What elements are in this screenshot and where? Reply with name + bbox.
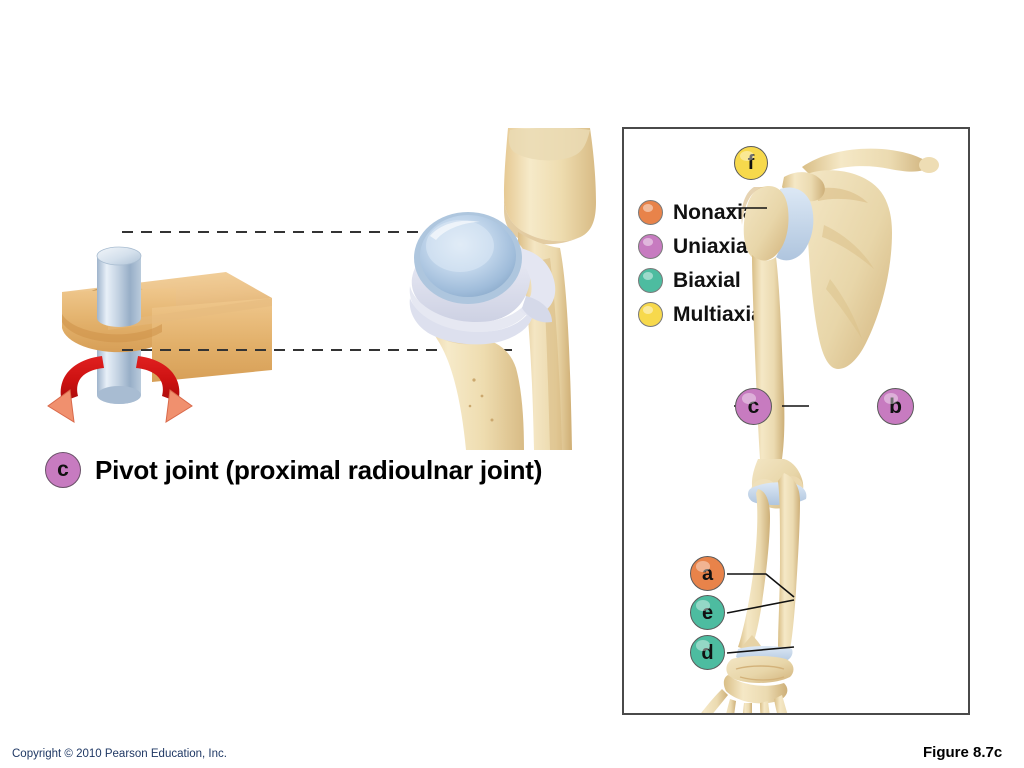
marker-badge-d[interactable]: d — [690, 635, 725, 670]
marker-badge-b[interactable]: b — [877, 388, 914, 425]
marker-badge-e[interactable]: e — [690, 595, 725, 630]
caption-text: Pivot joint (proximal radioulnar joint) — [95, 455, 542, 486]
radioulnar-joint-svg — [400, 128, 615, 450]
marker-letter-c: c — [748, 396, 760, 417]
pivot-model-figure — [40, 210, 330, 430]
skeleton-overview-panel: Nonaxial Uniaxial Biaxial Multiaxial — [622, 127, 970, 715]
rotation-arrow-left — [48, 356, 104, 422]
marker-badge-f[interactable]: f — [734, 146, 768, 180]
caption: c Pivot joint (proximal radioulnar joint… — [45, 452, 542, 488]
marker-letter-a: a — [702, 564, 713, 584]
radioulnar-joint-figure — [400, 128, 615, 450]
figure-number-label: Figure 8.7c — [923, 744, 1002, 761]
copyright-notice: Copyright © 2010 Pearson Education, Inc. — [12, 748, 227, 760]
caption-badge-letter: c — [57, 458, 69, 482]
marker-badge-c[interactable]: c — [735, 388, 772, 425]
pivot-peg-upper — [97, 247, 141, 327]
marker-letter-d: d — [701, 643, 713, 663]
marker-letter-e: e — [702, 603, 713, 623]
caption-badge-c: c — [45, 452, 81, 488]
carpal-bones — [724, 656, 794, 703]
humerus-bone — [504, 128, 596, 244]
marker-badge-a[interactable]: a — [690, 556, 725, 591]
marker-letter-f: f — [748, 153, 755, 173]
upper-limb-skeleton-svg — [624, 129, 968, 713]
radial-head-cartilage — [414, 212, 522, 304]
marker-letter-b: b — [889, 396, 902, 417]
pivot-model-svg — [40, 210, 330, 430]
ulna-bone-overview — [778, 473, 800, 649]
